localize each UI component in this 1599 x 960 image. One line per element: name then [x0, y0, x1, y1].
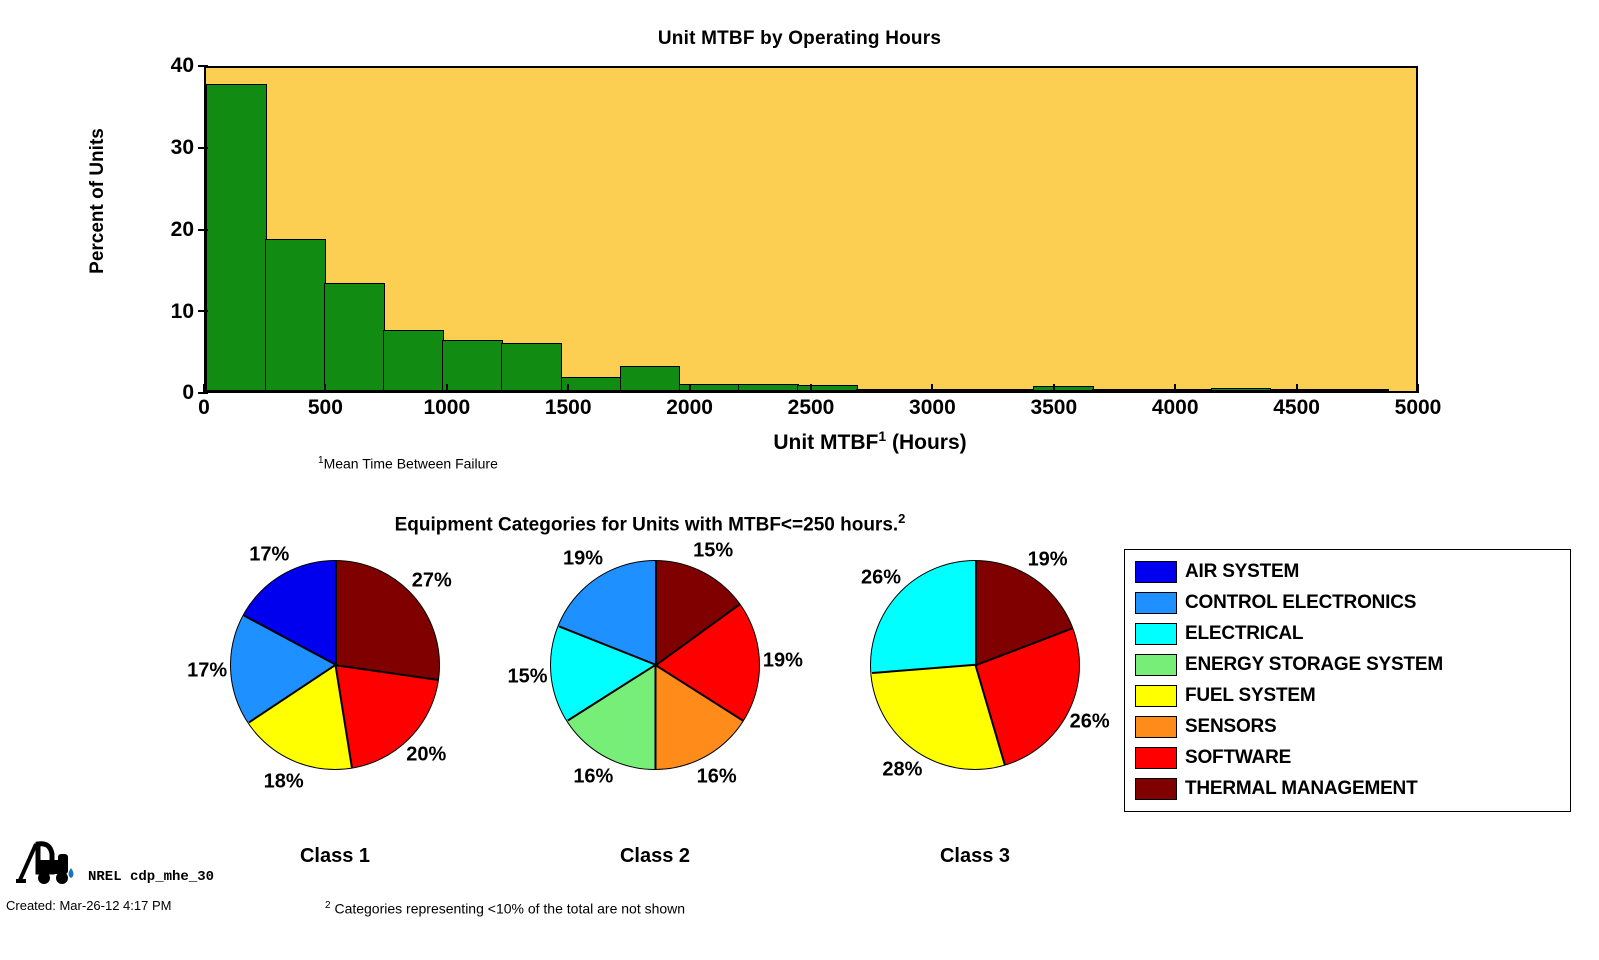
pie-class-label: Class 1	[205, 845, 465, 868]
histogram-bar	[383, 330, 444, 391]
pie-slice-divider	[655, 664, 744, 721]
pie-slice-divider	[335, 561, 337, 665]
x-tick-label: 3000	[887, 396, 977, 420]
pie-slice-divider	[872, 664, 976, 674]
legend-label: SOFTWARE	[1185, 747, 1291, 769]
pie-section-title-text: Equipment Categories for Units with MTBF…	[395, 514, 899, 535]
pie-slice-divider	[335, 665, 353, 768]
pie-slice-percentage: 20%	[406, 743, 446, 766]
pie-class-label: Class 2	[525, 845, 785, 868]
legend-swatch	[1135, 654, 1177, 676]
x-tick-label: 3500	[1009, 396, 1099, 420]
legend-item-electrical: ELECTRICAL	[1135, 618, 1570, 649]
pie-slice-divider	[244, 615, 336, 665]
x-tick-label: 1500	[523, 396, 613, 420]
histogram-bar	[738, 384, 799, 391]
x-axis-tick	[1053, 384, 1055, 393]
legend-swatch	[1135, 685, 1177, 707]
y-tick-label-30: 30	[152, 136, 194, 160]
legend-swatch	[1135, 623, 1177, 645]
pie-slice-divider	[975, 561, 977, 665]
pie-slice-divider	[336, 664, 439, 680]
pie-slice-percentage: 26%	[861, 567, 901, 590]
footnote-categories: 2 Categories representing <10% of the to…	[325, 900, 685, 917]
histogram-bar	[561, 377, 622, 391]
y-axis-tick	[198, 310, 208, 312]
created-timestamp: Created: Mar-26-12 4:17 PM	[6, 898, 171, 913]
legend-swatch	[1135, 592, 1177, 614]
pie-slice-percentage: 19%	[563, 548, 603, 571]
histogram-bar	[1211, 388, 1272, 391]
y-axis-tick	[198, 229, 208, 231]
nrel-label: NREL cdp_mhe_30	[88, 869, 214, 885]
pie-slice-divider	[655, 603, 740, 665]
pie-slice-divider	[249, 664, 336, 723]
legend-swatch	[1135, 778, 1177, 800]
x-tick-label: 0	[159, 396, 249, 420]
x-axis-tick	[1174, 384, 1176, 393]
legend-item-control-electronics: CONTROL ELECTRONICS	[1135, 587, 1570, 618]
x-axis-title: Unit MTBF1 (Hours)	[520, 428, 1220, 455]
legend-label: ELECTRICAL	[1185, 623, 1303, 645]
pie-slice-percentage: 16%	[697, 766, 737, 789]
pie-slice-divider	[975, 627, 1073, 666]
legend-swatch	[1135, 561, 1177, 583]
x-tick-label: 2500	[766, 396, 856, 420]
pie-circle	[870, 560, 1080, 770]
legend-item-software: SOFTWARE	[1135, 742, 1570, 773]
x-axis-title-units: (Hours)	[886, 431, 967, 454]
pie-slice-percentage: 15%	[693, 539, 733, 562]
x-tick-label: 4500	[1252, 396, 1342, 420]
pie-chart-1: 27%20%18%17%17%	[205, 560, 465, 830]
histogram-bar	[1033, 386, 1094, 391]
pie-slice-percentage: 15%	[508, 666, 548, 689]
legend-label: ENERGY STORAGE SYSTEM	[1185, 654, 1443, 676]
pie-slice-percentage: 27%	[412, 570, 452, 593]
pie-slice-percentage: 18%	[264, 771, 304, 794]
x-axis-tick	[810, 384, 812, 393]
pie-slice-percentage: 17%	[249, 544, 289, 567]
y-tick-label-10: 10	[152, 300, 194, 324]
x-axis-title-superscript: 1	[878, 428, 886, 444]
pie-slice-divider	[655, 665, 657, 769]
legend: AIR SYSTEMCONTROL ELECTRONICSELECTRICALE…	[1124, 549, 1571, 812]
pie-slice-percentage: 16%	[573, 766, 613, 789]
y-axis-tick	[198, 147, 208, 149]
pie-slice-percentage: 19%	[1028, 548, 1068, 571]
pie-section-title-superscript: 2	[898, 511, 905, 526]
x-axis-title-text: Unit MTBF	[773, 431, 878, 454]
pie-circle	[550, 560, 760, 770]
x-tick-label: 2000	[645, 396, 735, 420]
histogram-bar	[1092, 389, 1153, 392]
footnote-1-text: Mean Time Between Failure	[324, 456, 498, 472]
histogram-bar	[442, 340, 503, 391]
footnote-mtbf: 1Mean Time Between Failure	[318, 455, 498, 472]
histogram-plot-area	[204, 66, 1418, 393]
x-axis-tick	[689, 384, 691, 393]
pie-chart-3: 19%26%28%26%	[845, 560, 1105, 830]
y-axis-title: Percent of Units	[87, 91, 109, 311]
x-axis-tick	[1417, 384, 1419, 393]
pie-slice-percentage: 19%	[763, 649, 803, 672]
x-axis-tick	[446, 384, 448, 393]
pie-section-title: Equipment Categories for Units with MTBF…	[0, 511, 1300, 536]
histogram-bar	[797, 385, 858, 391]
histogram-bar	[265, 239, 326, 391]
pie-slice-divider	[975, 665, 1006, 765]
histogram-bar	[620, 366, 681, 391]
x-tick-label: 500	[280, 396, 370, 420]
legend-label: AIR SYSTEM	[1185, 561, 1299, 583]
histogram-bars	[206, 68, 1416, 391]
histogram-bar	[1329, 389, 1390, 392]
histogram-title: Unit MTBF by Operating Hours	[0, 28, 1599, 50]
histogram-bar	[324, 283, 385, 391]
histogram-bar	[501, 343, 562, 391]
legend-label: SENSORS	[1185, 716, 1277, 738]
pie-slice-percentage: 28%	[882, 759, 922, 782]
legend-item-energy-storage-system: ENERGY STORAGE SYSTEM	[1135, 649, 1570, 680]
legend-item-sensors: SENSORS	[1135, 711, 1570, 742]
x-axis-tick	[324, 384, 326, 393]
y-tick-label-20: 20	[152, 218, 194, 242]
pie-class-label: Class 3	[845, 845, 1105, 868]
histogram-bar	[974, 389, 1035, 392]
histogram-bar	[1270, 389, 1331, 392]
histogram-bar	[856, 389, 917, 392]
forklift-icon	[14, 838, 84, 886]
pie-slice-percentage: 26%	[1070, 710, 1110, 733]
x-tick-label: 1000	[402, 396, 492, 420]
y-axis-tick	[198, 65, 208, 67]
pie-slice-divider	[655, 561, 657, 665]
y-tick-label-40: 40	[152, 54, 194, 78]
pie-slice-divider	[559, 626, 656, 666]
legend-item-thermal-management: THERMAL MANAGEMENT	[1135, 773, 1570, 804]
pie-circle	[230, 560, 440, 770]
legend-swatch	[1135, 747, 1177, 769]
legend-item-air-system: AIR SYSTEM	[1135, 556, 1570, 587]
x-tick-label: 4000	[1130, 396, 1220, 420]
histogram-bar	[206, 84, 267, 391]
legend-label: CONTROL ELECTRONICS	[1185, 592, 1416, 614]
histogram-bar	[1152, 389, 1213, 392]
legend-label: FUEL SYSTEM	[1185, 685, 1315, 707]
x-axis-tick	[931, 384, 933, 393]
legend-label: THERMAL MANAGEMENT	[1185, 778, 1417, 800]
legend-swatch	[1135, 716, 1177, 738]
footnote-2-text: Categories representing <10% of the tota…	[331, 901, 686, 917]
x-axis-tick	[1296, 384, 1298, 393]
pie-chart-2: 15%19%16%16%15%19%	[525, 560, 785, 830]
histogram-bar	[915, 389, 976, 392]
y-axis-tick	[198, 392, 208, 394]
pie-slice-percentage: 17%	[187, 660, 227, 683]
x-tick-label: 5000	[1373, 396, 1463, 420]
legend-item-fuel-system: FUEL SYSTEM	[1135, 680, 1570, 711]
pie-slice-divider	[568, 664, 657, 721]
x-axis-tick	[567, 384, 569, 393]
